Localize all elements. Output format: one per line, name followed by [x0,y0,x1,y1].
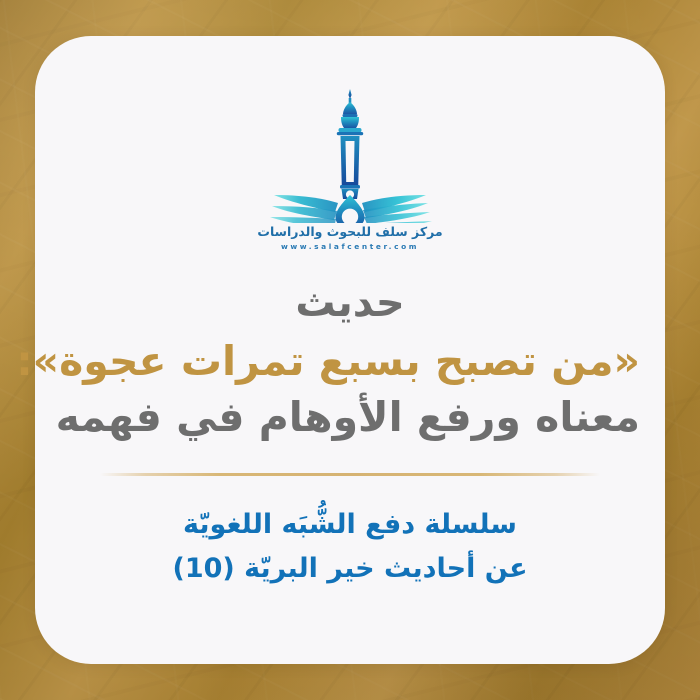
poster-canvas: مركز سلف للبحوث والدراسات www.salafcente… [0,0,700,700]
headline-kicker: حديث [60,277,640,329]
gold-divider [100,473,600,476]
headline-subject: معناه ورفع الأوهام في فهمه [60,391,640,444]
headline-hadith-quote: «من تصبح بسبع تمرات عجوة»: [60,335,640,388]
logo-wordmark: مركز سلف للبحوث والدراسات [257,225,442,239]
series-title-line-1: سلسلة دفع الشُّبَه اللغويّة [70,503,630,547]
series-block: سلسلة دفع الشُّبَه اللغويّة عن أحاديث خي… [70,503,630,590]
brand-logo: مركز سلف للبحوث والدراسات www.salafcente… [220,83,480,251]
series-title-line-2: عن أحاديث خير البريّة (10) [70,547,630,591]
content-card: مركز سلف للبحوث والدراسات www.salafcente… [35,36,665,664]
minaret-book-logo-icon [266,83,434,223]
headline-block: حديث «من تصبح بسبع تمرات عجوة»: معناه ور… [60,277,640,445]
logo-website-url: www.salafcenter.com [281,242,419,251]
